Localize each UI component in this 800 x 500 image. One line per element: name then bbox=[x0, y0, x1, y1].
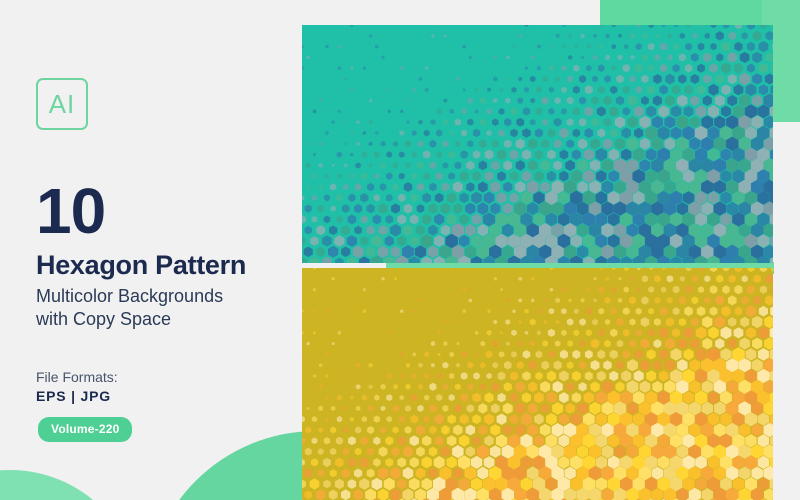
ai-format-icon: AI bbox=[36, 78, 88, 130]
info-column: AI 10 Hexagon Pattern Multicolor Backgro… bbox=[36, 78, 286, 404]
volume-badge: Volume-220 bbox=[38, 417, 132, 442]
yellow-hexagon-preview[interactable] bbox=[302, 268, 773, 500]
ai-format-label: AI bbox=[49, 89, 76, 120]
subtitle-line-1: Multicolor Backgrounds bbox=[36, 285, 286, 308]
file-formats-value: EPS | JPG bbox=[36, 388, 286, 404]
subtitle-line-2: with Copy Space bbox=[36, 308, 286, 331]
decorative-circle-bottom-left bbox=[0, 470, 140, 500]
page-subtitle: Multicolor Backgrounds with Copy Space bbox=[36, 285, 286, 331]
item-count: 10 bbox=[36, 182, 286, 241]
page-title: Hexagon Pattern bbox=[36, 251, 286, 280]
file-formats-label: File Formats: bbox=[36, 369, 286, 385]
teal-hexagon-preview[interactable] bbox=[302, 25, 773, 263]
poster-canvas: AI 10 Hexagon Pattern Multicolor Backgro… bbox=[0, 0, 800, 500]
